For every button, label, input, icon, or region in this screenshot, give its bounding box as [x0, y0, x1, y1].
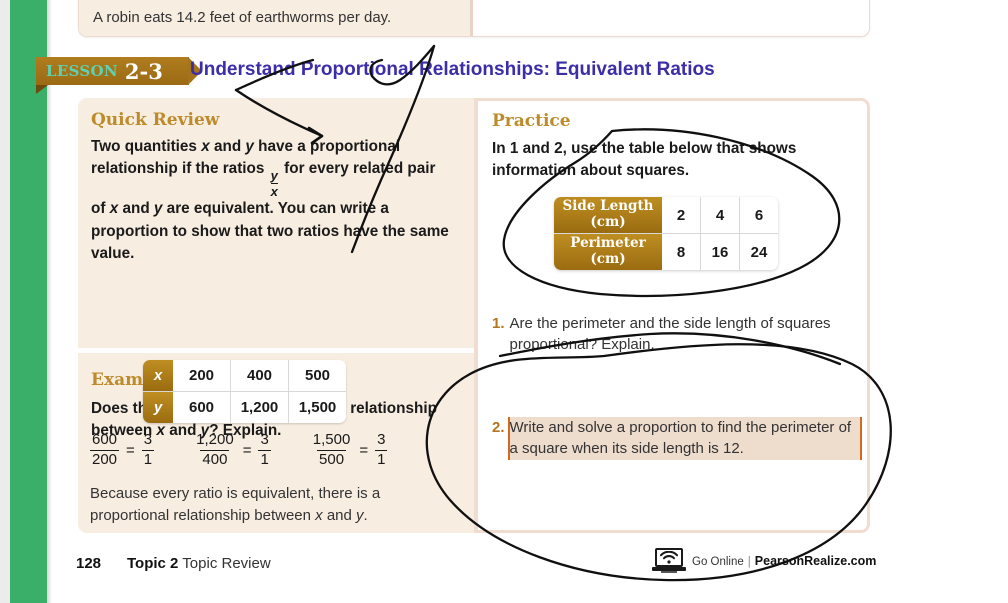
qr-t2: and [210, 138, 246, 155]
table-row: Perimeter (cm) 8 16 24 [554, 234, 778, 270]
eq1-sign: = [126, 442, 135, 459]
previous-exercise-card: A robin eats 14.2 feet of earthworms per… [78, 0, 870, 37]
ratio-y-over-x-fraction: yx [271, 169, 278, 198]
go-online-link[interactable]: Go Online|PearsonRealize.com [652, 548, 876, 574]
eq2-rden: 1 [258, 450, 270, 469]
eq1-rden: 1 [142, 450, 154, 469]
perimeter-label-line1: Perimeter [558, 236, 658, 252]
cell-x-2: 400 [231, 360, 289, 392]
footer-topic-rest: Topic Review [178, 555, 270, 572]
qr-var-x1: x [201, 138, 210, 155]
eq3-num: 1,500 [311, 432, 353, 450]
eq1-den: 200 [90, 450, 119, 469]
eq1-rnum: 3 [142, 432, 154, 450]
perimeter-label-line2: (cm) [558, 252, 658, 268]
row-header-perimeter: Perimeter (cm) [554, 234, 662, 270]
laptop-wifi-icon [652, 548, 686, 574]
row-label-x: x [143, 360, 173, 392]
go-online-label: Go Online [692, 556, 744, 568]
laptop-foot [661, 571, 677, 573]
concl-end: . [364, 507, 368, 524]
practice-question-1[interactable]: 1. Are the perimeter and the side length… [492, 313, 847, 356]
eq3-rnum: 3 [375, 432, 387, 450]
cell-y-2: 1,200 [231, 392, 289, 423]
equation-3-right-fraction: 3 1 [375, 432, 387, 469]
page-left-edge [0, 0, 10, 603]
eq3-rden: 1 [375, 450, 387, 469]
question-1-text: Are the perimeter and the side length of… [510, 313, 847, 356]
question-2-text-selected[interactable]: Write and solve a proportion to find the… [510, 417, 860, 460]
quick-review-heading: Quick Review [91, 110, 219, 130]
cell-side-3: 6 [740, 197, 778, 234]
row-label-y: y [143, 392, 173, 423]
side-length-label-line2: (cm) [558, 215, 658, 231]
pi-t2: and [518, 140, 554, 157]
textbook-page: A robin eats 14.2 feet of earthworms per… [0, 0, 1008, 603]
eq2-sign: = [243, 442, 252, 459]
equation-3: 1,500 500 = 3 1 [311, 432, 388, 469]
cell-x-1: 200 [173, 360, 231, 392]
cell-y-3: 1,500 [289, 392, 346, 423]
row-header-side-length: Side Length (cm) [554, 197, 662, 234]
pi-t1: In [492, 140, 510, 157]
table-row: x 200 400 500 [143, 360, 346, 392]
practice-intro: In 1 and 2, use the table below that sho… [492, 138, 847, 182]
equation-2: 1,200 400 = 3 1 [194, 432, 271, 469]
quick-review-text: Two quantities x and y have a proportion… [91, 136, 453, 266]
cell-x-3: 500 [289, 360, 346, 392]
concl-and: and [323, 507, 356, 524]
qr-var-y1: y [245, 138, 254, 155]
question-2-number: 2. [492, 417, 505, 460]
practice-heading: Practice [492, 111, 571, 131]
eq1-num: 600 [90, 432, 119, 450]
wifi-icon [660, 551, 678, 564]
concl-var-x: x [315, 507, 323, 524]
question-1-number: 1. [492, 313, 505, 356]
example-equations: 600 200 = 3 1 1,200 400 = 3 1 1,500 [90, 432, 460, 469]
cell-side-2: 4 [701, 197, 740, 234]
qr-t5: and [118, 200, 154, 217]
concl-var-y: y [356, 507, 364, 524]
lesson-banner-fold [36, 85, 48, 94]
eq2-num: 1,200 [194, 432, 236, 450]
eq3-sign: = [359, 442, 368, 459]
previous-exercise-text: A robin eats 14.2 feet of earthworms per… [93, 9, 391, 26]
pearson-realize-url: PearsonRealize.com [755, 554, 877, 568]
page-number: 128 [76, 555, 101, 572]
footer-topic-bold: Topic 2 [127, 555, 178, 572]
lesson-number: 2-3 [125, 59, 163, 84]
cell-perimeter-2: 16 [701, 234, 740, 270]
equation-3-left-fraction: 1,500 500 [311, 432, 353, 469]
lesson-label: LESSON [46, 62, 118, 80]
footer-separator: | [748, 556, 751, 568]
ratio-numerator: y [271, 169, 278, 183]
pi-b2: 2 [554, 140, 563, 157]
equation-1-left-fraction: 600 200 [90, 432, 119, 469]
table-row: Side Length (cm) 2 4 6 [554, 197, 778, 234]
equation-1: 600 200 = 3 1 [90, 432, 154, 469]
practice-question-2[interactable]: 2. Write and solve a proportion to find … [492, 417, 860, 460]
squares-data-table: Side Length (cm) 2 4 6 Perimeter (cm) 8 … [554, 197, 778, 270]
cell-perimeter-3: 24 [740, 234, 778, 270]
equation-1-right-fraction: 3 1 [142, 432, 154, 469]
practice-panel: Practice In 1 and 2, use the table below… [474, 98, 870, 533]
eq2-den: 400 [200, 450, 229, 469]
qr-var-x2: x [110, 200, 119, 217]
example-conclusion: Because every ratio is equivalent, there… [90, 483, 440, 527]
page-title: Understand Proportional Relationships: E… [190, 59, 715, 81]
eq2-rnum: 3 [258, 432, 270, 450]
side-length-label-line1: Side Length [558, 199, 658, 215]
equation-2-right-fraction: 3 1 [258, 432, 270, 469]
cell-perimeter-1: 8 [662, 234, 701, 270]
cell-y-1: 600 [173, 392, 231, 423]
example-data-table: x 200 400 500 y 600 1,200 1,500 [143, 360, 346, 423]
lesson-banner: LESSON 2-3 [36, 57, 189, 85]
ratio-denominator: x [271, 183, 278, 198]
eq3-den: 500 [317, 450, 346, 469]
table-row: y 600 1,200 1,500 [143, 392, 346, 423]
go-online-text: Go Online|PearsonRealize.com [692, 554, 876, 568]
equation-2-left-fraction: 1,200 400 [194, 432, 236, 469]
footer-topic: Topic 2 Topic Review [127, 555, 271, 572]
reference-panel-divider [78, 348, 474, 353]
cell-side-1: 2 [662, 197, 701, 234]
qr-t1: Two quantities [91, 138, 201, 155]
